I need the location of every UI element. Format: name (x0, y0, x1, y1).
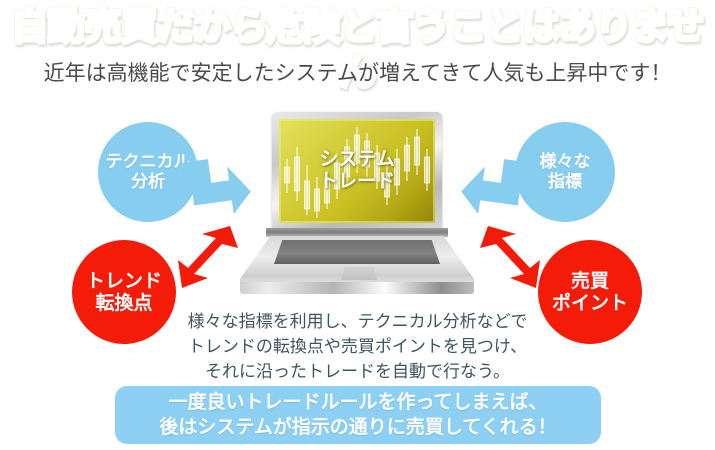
infographic-canvas: 自動売買だから危険と言うことはありません 近年は高機能で安定したシステムが増えて… (0, 0, 715, 450)
laptop-front-edge (240, 282, 474, 294)
conclusion-banner-line-2: 後はシステムが指示の通りに売買してくれる！ (159, 415, 556, 440)
laptop-trackpad (341, 267, 377, 280)
description-line-1: 様々な指標を利用し、テクニカル分析などで (0, 310, 715, 335)
badge-various-indicators-line2: 指標 (548, 172, 582, 192)
badge-various-indicators: 様々な 指標 (515, 122, 615, 222)
badge-technical-analysis-line1: テクニカル (106, 152, 191, 172)
laptop-illustration: システム トレード (237, 112, 477, 302)
description-paragraph: 様々な指標を利用し、テクニカル分析などで トレンドの転換点や売買ポイントを見つけ… (0, 310, 715, 385)
badge-various-indicators-line1: 様々な (540, 152, 591, 172)
badge-technical-analysis-label: テクニカル 分析 (106, 152, 191, 192)
badge-technical-analysis-line2: 分析 (131, 172, 165, 192)
laptop-lid: システム トレード (272, 112, 442, 230)
laptop-screen-label-line2: トレード (319, 170, 395, 192)
laptop-screen-label: システム トレード (279, 148, 435, 192)
badge-various-indicators-label: 様々な 指標 (540, 152, 591, 192)
laptop-hinge (266, 228, 448, 237)
conclusion-banner-line-1: 一度良いトレードルールを作ってしまえば、 (168, 390, 547, 415)
laptop-screen-label-line1: システム (319, 148, 394, 170)
conclusion-banner: 一度良いトレードルールを作ってしまえば、 後はシステムが指示の通りに売買してくれ… (115, 386, 601, 444)
description-line-2: トレンドの転換点や売買ポイントを見つけ、 (0, 335, 715, 360)
badge-trend-reversal-line1: トレンド (86, 270, 162, 292)
laptop-screen: システム トレード (279, 119, 435, 223)
badge-trend-reversal-label: トレンド 転換点 (86, 270, 162, 315)
badge-trade-point-line1: 売買 (571, 270, 609, 292)
badge-trade-point-label: 売買 ポイント (552, 270, 628, 315)
page-subtitle: 近年は高機能で安定したシステムが増えてきて人気も上昇中です！ (0, 58, 715, 88)
arrow-down-left-icon (168, 224, 240, 292)
description-line-3: それに沿ったトレードを自動で行なう。 (0, 360, 715, 385)
laptop-keyboard (274, 240, 440, 264)
